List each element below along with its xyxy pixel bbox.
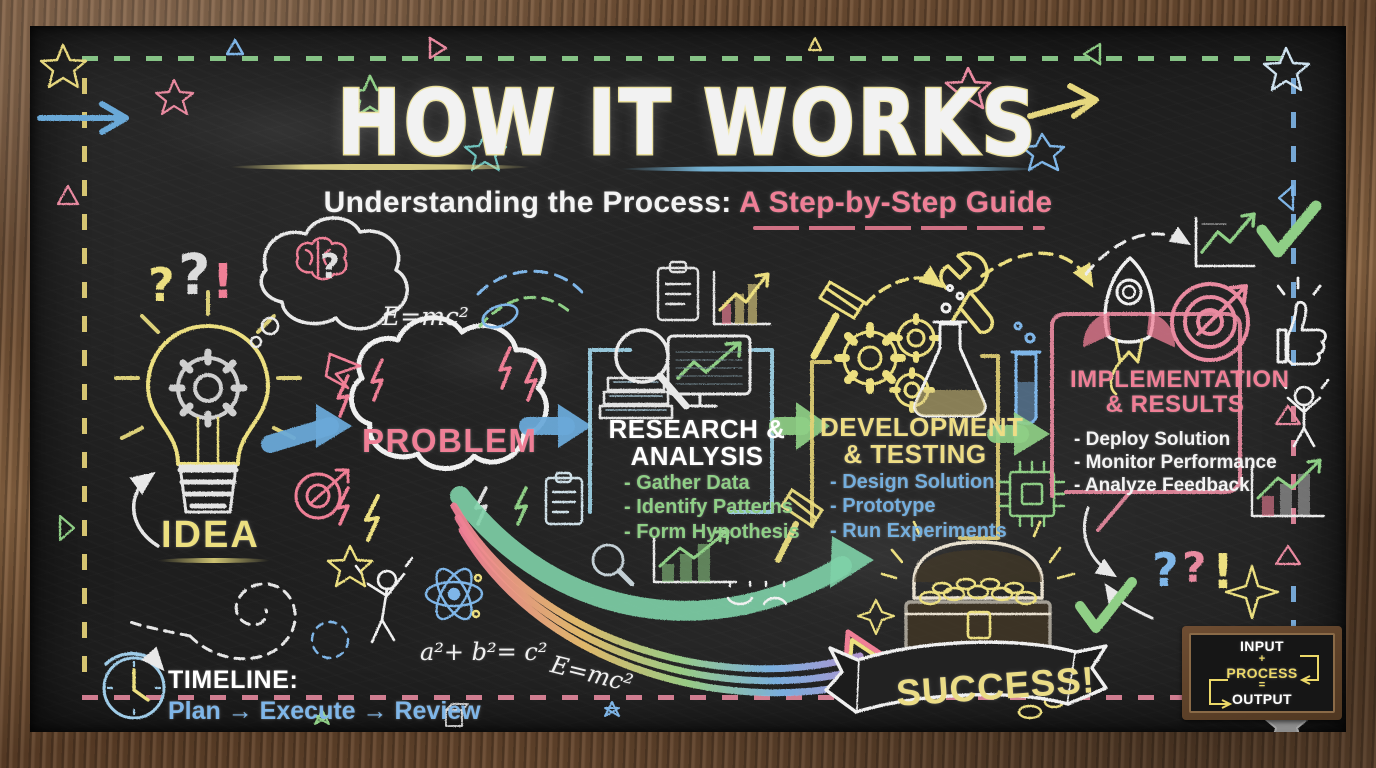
question-mark-icon: ? xyxy=(1152,543,1179,597)
implementation-title-line1: IMPLEMENTATION xyxy=(1070,368,1280,393)
stage-label-idea: IDEA xyxy=(161,514,260,557)
stage-label-problem: PROBLEM xyxy=(362,422,538,460)
atom-icon xyxy=(426,564,482,624)
curved-arrow-icon xyxy=(1084,508,1112,574)
star-icon xyxy=(605,702,619,716)
target-arrow-icon xyxy=(296,470,348,518)
border-dashed-top xyxy=(82,56,1294,61)
rainbow-arrow-head xyxy=(844,632,896,692)
triangle-icon xyxy=(60,516,74,540)
chip-icon xyxy=(1000,462,1064,526)
triangle-icon xyxy=(430,38,446,58)
orbit-icon xyxy=(480,300,521,331)
spiral-dashed-icon xyxy=(130,584,295,659)
check-icon xyxy=(1080,582,1132,628)
research-title-line1: RESEARCH & xyxy=(602,416,792,443)
stage-title-implementation: IMPLEMENTATION & RESULTS xyxy=(1070,368,1280,418)
star-icon xyxy=(328,546,372,586)
subtitle-underline xyxy=(753,226,1045,230)
dashed-circle-icon xyxy=(312,622,348,658)
stage-title-development: DEVELOPMENT & TESTING xyxy=(820,414,1010,468)
development-title-line2: & TESTING xyxy=(820,441,1010,468)
chalkboard: ? ? ! ? xyxy=(30,26,1346,732)
research-bullets: - Gather Data - Identify Patterns - Form… xyxy=(624,471,800,544)
list-item: - Monitor Performance xyxy=(1074,451,1277,474)
dashed-arrow-icon xyxy=(982,253,1090,282)
monitor-chart-icon xyxy=(668,336,750,406)
implementation-bullets: - Deploy Solution - Monitor Performance … xyxy=(1074,428,1277,498)
success-label: SUCCESS! xyxy=(895,659,1097,715)
dashed-arc xyxy=(478,271,582,294)
list-item: - Gather Data xyxy=(624,471,800,495)
mini-board-arrows xyxy=(1184,628,1344,722)
exclamation-mark-icon: ! xyxy=(212,254,234,310)
triangle-icon xyxy=(1276,546,1300,564)
list-item: - Deploy Solution xyxy=(1074,428,1277,451)
research-title-line2: ANALYSIS xyxy=(602,443,792,470)
title-underline-yellow xyxy=(230,164,530,170)
formula-pythagoras: a²+ b²= c² xyxy=(420,638,547,666)
dashed-arrow-icon xyxy=(866,278,938,304)
question-mark-icon: ? xyxy=(1182,543,1206,592)
curved-arrow-icon xyxy=(1108,588,1152,618)
bar-chart-icon xyxy=(714,272,770,324)
chalk-smudge xyxy=(410,326,590,396)
timeline-block: TIMELINE: Plan → Execute → Review xyxy=(168,666,481,726)
exclamation-mark-icon: ! xyxy=(1212,544,1234,600)
page-subtitle: Understanding the Process: A Step-by-Ste… xyxy=(30,186,1346,220)
border-dashed-right-pink xyxy=(1291,406,1296,526)
formula-emc-bottom: E=mc² xyxy=(548,650,636,697)
list-item: - Prototype xyxy=(830,494,1007,518)
clipboard-icon xyxy=(546,473,582,524)
implementation-box xyxy=(1052,314,1240,530)
question-mark-icon: ? xyxy=(148,258,175,312)
flask-icon xyxy=(915,286,986,417)
lightbulb-gear-icon xyxy=(116,292,300,512)
dashed-arc xyxy=(480,297,570,326)
dashed-arrow-icon xyxy=(1086,234,1186,274)
hammer-icon xyxy=(814,282,864,356)
mini-chalkboard-inner: INPUT + PROCESS = OUTPUT xyxy=(1189,633,1335,713)
list-item: - Identify Patterns xyxy=(624,495,800,519)
magnifier-icon xyxy=(593,545,632,584)
question-mark-icon: ? xyxy=(320,247,340,287)
title-area: HOW IT WORKS xyxy=(30,78,1346,167)
development-bullets: - Design Solution - Prototype - Run Expe… xyxy=(830,470,1007,543)
list-item: - Analyze Feedback xyxy=(1074,474,1277,497)
mini-chalkboard: INPUT + PROCESS = OUTPUT xyxy=(1182,626,1342,720)
list-item: - Design Solution xyxy=(830,470,1007,494)
page-title: HOW IT WORKS xyxy=(337,70,1039,175)
triangle-icon xyxy=(227,40,243,54)
implementation-title-line2: & RESULTS xyxy=(1070,393,1280,418)
list-item: - Form Hypothesis xyxy=(624,520,800,544)
growth-chart-icon xyxy=(1196,214,1254,266)
formula-emc-top: E=mc² xyxy=(382,302,469,331)
arrow-idea-to-problem xyxy=(270,404,352,448)
rainbow-arrow-head xyxy=(848,640,888,684)
wooden-frame: ? ? ! ? xyxy=(0,0,1376,768)
border-dashed-left xyxy=(82,78,87,678)
timeline-heading: TIMELINE: xyxy=(168,666,481,695)
curved-arrow-green xyxy=(830,536,874,588)
curved-arrow-icon xyxy=(134,476,158,546)
thumbs-up-icon xyxy=(1278,278,1325,364)
magnifier-icon xyxy=(616,330,686,406)
idea-underline xyxy=(158,558,270,563)
rainbow-arc xyxy=(462,530,872,693)
stick-figure-icon xyxy=(356,558,412,642)
list-item: - Run Experiments xyxy=(830,519,1007,543)
question-mark-icon: ? xyxy=(178,243,210,308)
clock-icon xyxy=(104,654,164,718)
test-tube-icon xyxy=(1012,323,1040,424)
triangle-icon xyxy=(1084,44,1100,64)
emoji-face-icon xyxy=(728,582,786,604)
gears-icon xyxy=(838,316,938,410)
books-icon xyxy=(600,378,672,418)
stage-title-research: RESEARCH & ANALYSIS xyxy=(602,416,792,470)
target-icon xyxy=(1172,284,1248,360)
title-underline-blue xyxy=(620,166,1040,172)
paper-plane-icon xyxy=(326,354,360,388)
subtitle-white-part: Understanding the Process: xyxy=(324,186,739,219)
timeline-steps: Plan → Execute → Review xyxy=(168,697,481,726)
clipboard-icon xyxy=(658,262,698,320)
development-title-line1: DEVELOPMENT xyxy=(820,414,1010,441)
sparkle-icon xyxy=(1226,566,1278,618)
subtitle-pink-part: A Step-by-Step Guide xyxy=(739,186,1052,219)
wrench-icon xyxy=(941,253,992,332)
star-icon xyxy=(809,38,821,50)
